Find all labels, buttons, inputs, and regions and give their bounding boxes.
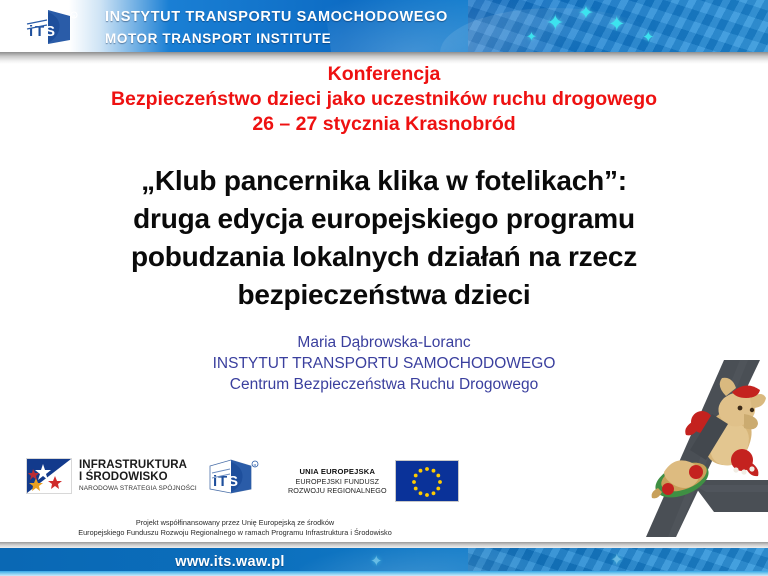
svg-text:i: i [29,23,33,40]
svg-text:R: R [73,14,76,19]
slide-title-line-4: bezpieczeństwa dzieci [48,276,720,314]
svg-text:S: S [228,473,238,490]
slide-title: „Klub pancernika klika w fotelikach”: dr… [48,162,720,314]
sponsor-logo-row: INFRASTRUKTURA I ŚRODOWISKO NARODOWA STR… [0,452,768,512]
author-block: Maria Dąbrowska-Loranc INSTYTUT TRANSPOR… [100,332,668,395]
footer-bottom-accent [0,571,768,576]
eu-line-1: UNIA EUROPEJSKA [288,467,387,476]
presentation-slide: ✦ ✦ ✦ ✦ ✦ i T S R INSTYTUT TRANSPORTU SA… [0,0,768,576]
eu-line-2: EUROPEJSKI FUNDUSZ [288,477,387,486]
author-name: Maria Dąbrowska-Loranc [100,332,668,353]
header-star-icon: ✦ [608,14,626,35]
disclaimer-line-1: Projekt współfinansowany przez Unię Euro… [20,518,450,528]
its-logo-footer-icon: i T S R [205,456,261,496]
header-banner: ✦ ✦ ✦ ✦ ✦ i T S R INSTYTUT TRANSPORTU SA… [0,0,768,52]
funding-disclaimer: Projekt współfinansowany przez Unię Euro… [20,518,450,538]
eu-flag-icon [395,460,459,502]
conference-line-1: Konferencja [40,62,728,87]
eu-line-3: ROZWOJU REGIONALNEGO [288,486,387,495]
header-institute-en: MOTOR TRANSPORT INSTITUTE [105,30,448,48]
slide-title-line-1: „Klub pancernika klika w fotelikach”: [48,162,720,200]
header-star-icon: ✦ [526,30,537,43]
its-logo-icon: i T S R [18,6,82,46]
author-organisation: INSTYTUT TRANSPORTU SAMOCHODOWEGO [100,353,668,374]
svg-text:R: R [254,462,257,467]
header-title-block: INSTYTUT TRANSPORTU SAMOCHODOWEGO MOTOR … [105,8,448,48]
conference-line-3: 26 – 27 stycznia Krasnobród [40,112,728,137]
author-department: Centrum Bezpieczeństwa Ruchu Drogowego [100,374,668,395]
fund-line-3: NARODOWA STRATEGIA SPÓJNOŚCI [79,486,197,492]
header-star-icon: ✦ [578,4,594,23]
fund-logo-text: INFRASTRUKTURA I ŚRODOWISKO NARODOWA STR… [79,460,197,493]
eu-logo-text: UNIA EUROPEJSKA EUROPEJSKI FUNDUSZ ROZWO… [288,467,387,494]
conference-line-2: Bezpieczeństwo dzieci jako uczestników r… [40,87,728,112]
logo-european-union: UNIA EUROPEJSKA EUROPEJSKI FUNDUSZ ROZWO… [288,460,459,502]
conference-heading: Konferencja Bezpieczeństwo dzieci jako u… [40,62,728,137]
logo-infrastruktura-srodowisko: INFRASTRUKTURA I ŚRODOWISKO NARODOWA STR… [26,458,197,494]
header-star-icon: ✦ [546,12,564,34]
fund-flag-icon [26,458,72,494]
footer-star-icon: ✦ [610,553,623,569]
svg-text:i: i [213,473,217,490]
disclaimer-line-2: Europejskiego Funduszu Rozwoju Regionaln… [20,528,450,538]
fund-line-1: INFRASTRUKTURA [79,460,197,472]
header-institute-pl: INSTYTUT TRANSPORTU SAMOCHODOWEGO [105,8,448,26]
slide-title-line-2: druga edycja europejskiego programu [48,200,720,238]
fund-line-2: I ŚRODOWISKO [79,472,197,484]
header-star-icon: ✦ [642,30,655,45]
slide-title-line-3: pobudzania lokalnych działań na rzecz [48,238,720,276]
